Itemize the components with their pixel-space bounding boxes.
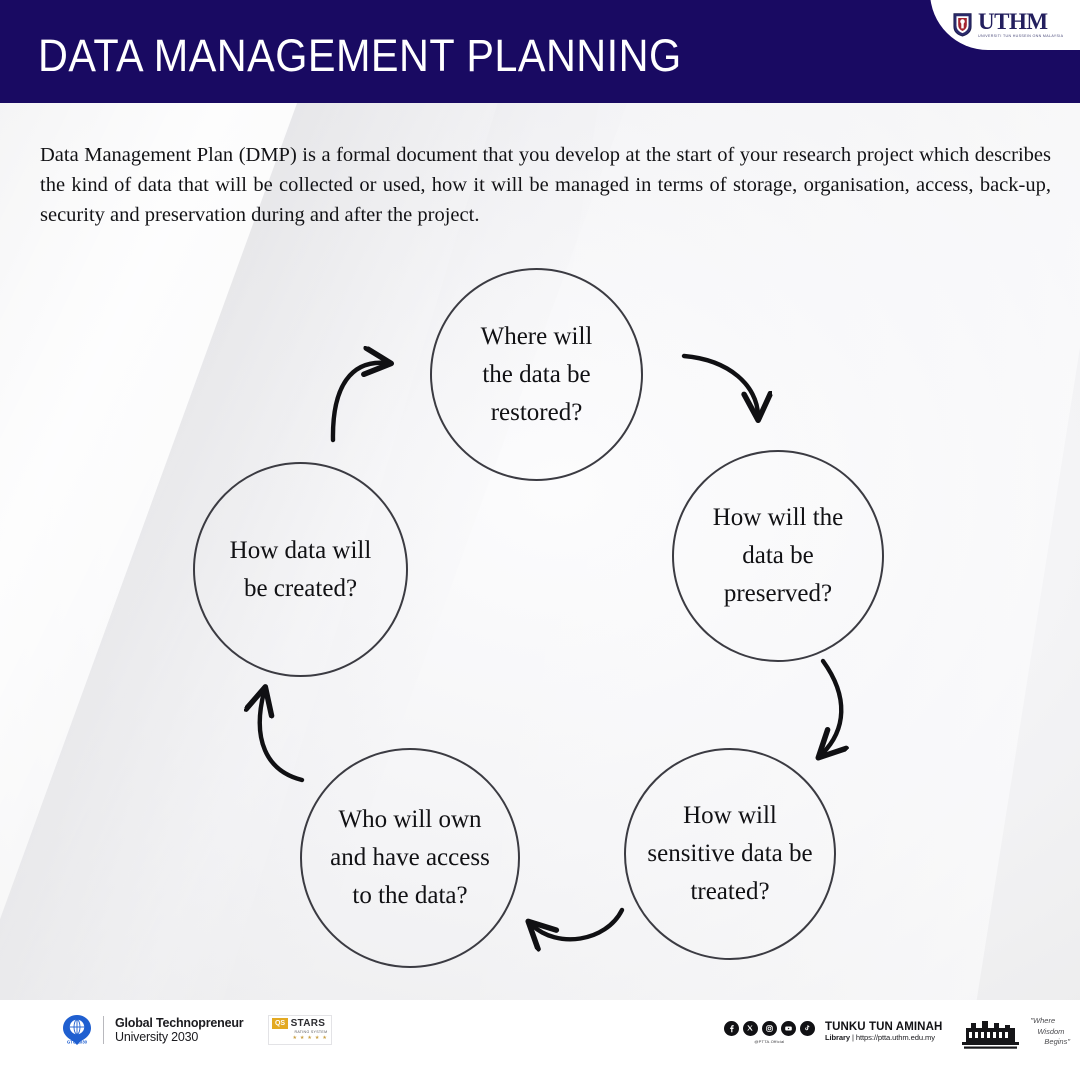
footer-right-group: @PTTA.Official TUNKU TUN AMINAH Library …	[724, 1012, 1070, 1052]
cycle-node-preserved[interactable]: How will the data be preserved?	[672, 450, 884, 662]
instagram-icon[interactable]	[762, 1021, 777, 1036]
cycle-node-created[interactable]: How data will be created?	[193, 462, 408, 677]
cycle-node-label: Who will own and have access to the data…	[302, 801, 518, 915]
star-icon: ★	[292, 1036, 296, 1041]
tagline-line-2: Wisdom	[1037, 1027, 1070, 1038]
qs-stars-label: STARS	[291, 1018, 326, 1029]
dmp-cycle-diagram: Where will the data be restored? How wil…	[0, 0, 1080, 1068]
qs-stars-badge: QS STARS RATING SYSTEM ★ ★ ★ ★ ★	[268, 1015, 332, 1045]
qs-star-icons: ★ ★ ★ ★ ★	[292, 1036, 326, 1041]
footer-divider	[103, 1016, 104, 1044]
tiktok-icon[interactable]	[800, 1021, 815, 1036]
facebook-icon[interactable]	[724, 1021, 739, 1036]
castle-calligraphy-icon	[958, 1012, 1024, 1052]
cycle-node-sensitive[interactable]: How will sensitive data be treated?	[624, 748, 836, 960]
gtu-line-1: Global Technopreneur	[115, 1016, 243, 1030]
cycle-node-label: How will sensitive data be treated?	[626, 797, 834, 911]
cycle-node-access[interactable]: Who will own and have access to the data…	[300, 748, 520, 968]
star-icon: ★	[322, 1036, 326, 1041]
star-icon: ★	[315, 1036, 319, 1041]
arrow-created-to-restored	[333, 363, 386, 440]
gtu-globe-icon: GTU 2030	[62, 1014, 92, 1046]
tagline-line-1: "Where	[1030, 1016, 1070, 1027]
star-icon: ★	[300, 1036, 304, 1041]
arrow-restored-to-preserved	[684, 356, 758, 415]
cycle-node-label: How will the data be preserved?	[674, 499, 882, 613]
cycle-node-label: How data will be created?	[195, 532, 406, 608]
footer-left-group: GTU 2030 Global Technopreneur University…	[62, 1014, 332, 1046]
arrow-access-to-created	[260, 692, 302, 780]
cycle-node-label: Where will the data be restored?	[432, 318, 641, 432]
library-brand: TUNKU TUN AMINAH Library | https://ptta.…	[825, 1021, 942, 1043]
gtu-line-2: University 2030	[115, 1030, 243, 1044]
castle-tagline: "Where Wisdom Begins"	[1030, 1016, 1070, 1049]
cycle-node-restored[interactable]: Where will the data be restored?	[430, 268, 643, 481]
arrow-preserved-to-sensitive	[822, 661, 841, 754]
gtu-mark-caption: GTU 2030	[67, 1039, 88, 1044]
poster-canvas: DATA MANAGEMENT PLANNING UTHM UNIVERSITI…	[0, 0, 1080, 1068]
page-footer: GTU 2030 Global Technopreneur University…	[0, 1000, 1080, 1068]
qs-rating-subtitle: RATING SYSTEM	[294, 1030, 327, 1034]
x-twitter-icon[interactable]	[743, 1021, 758, 1036]
tagline-line-3: Begins"	[1044, 1037, 1070, 1048]
qs-logo: QS	[272, 1018, 287, 1029]
library-label: Library	[825, 1033, 850, 1042]
arrow-sensitive-to-access	[532, 910, 622, 939]
social-handle: @PTTA.Official	[754, 1039, 784, 1044]
youtube-icon[interactable]	[781, 1021, 796, 1036]
social-links-group: @PTTA.Official	[724, 1021, 815, 1044]
library-url[interactable]: https://ptta.uthm.edu.my	[856, 1033, 935, 1042]
star-icon: ★	[307, 1036, 311, 1041]
castle-logo-group: "Where Wisdom Begins"	[958, 1012, 1070, 1052]
cycle-arrows-group	[0, 0, 1080, 1068]
